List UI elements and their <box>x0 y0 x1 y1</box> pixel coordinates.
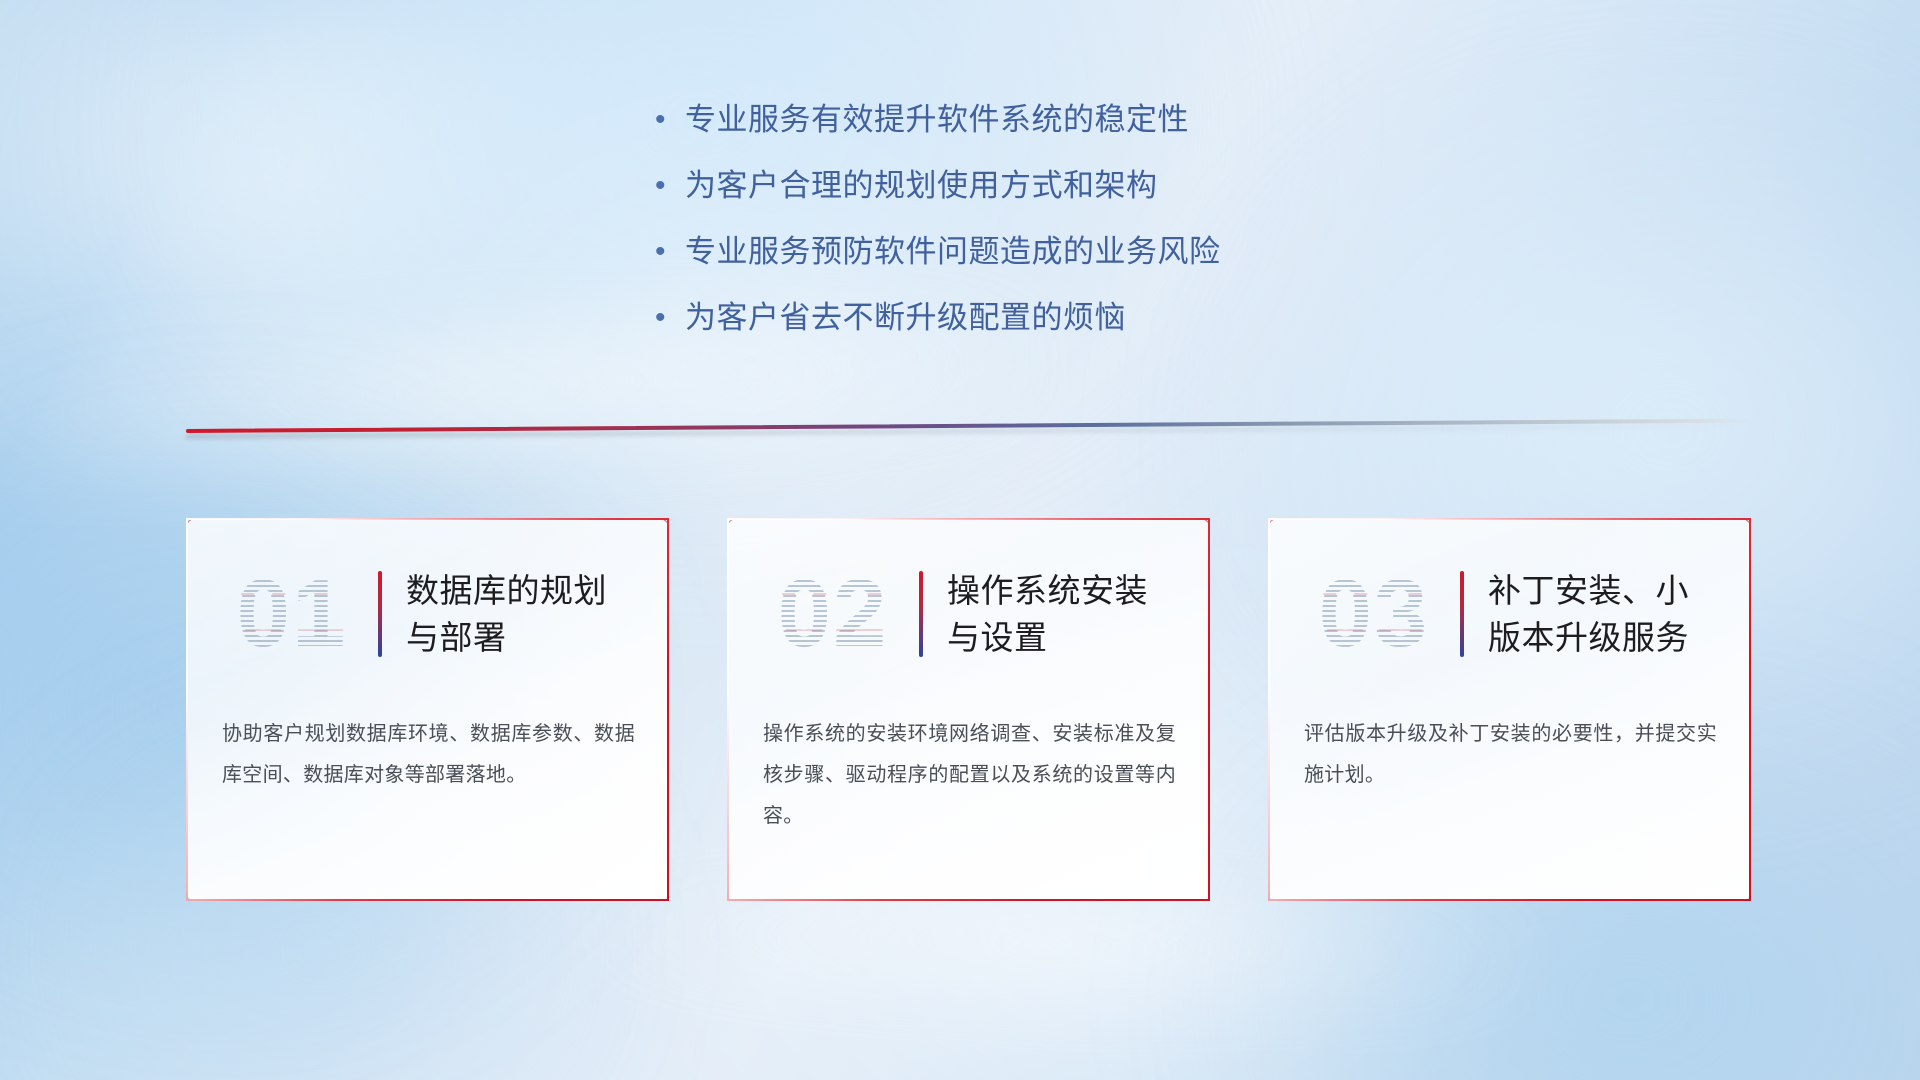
bullet-dot-icon: • <box>655 164 685 208</box>
card-title: 操作系统安装 与设置 <box>947 567 1148 661</box>
card-number: 01 <box>212 555 372 673</box>
card-accent-bar <box>1460 571 1464 657</box>
card-number: 03 <box>1294 555 1454 673</box>
card-accent-bar <box>919 571 923 657</box>
bullet-item: • 为客户合理的规划使用方式和架构 <box>655 164 1655 208</box>
bullet-dot-icon: • <box>655 230 685 274</box>
section-divider <box>186 424 1756 446</box>
bullet-item: • 专业服务有效提升软件系统的稳定性 <box>655 98 1655 142</box>
bullet-list: • 专业服务有效提升软件系统的稳定性 • 为客户合理的规划使用方式和架构 • 专… <box>655 98 1655 362</box>
bullet-item: • 为客户省去不断升级配置的烦恼 <box>655 296 1655 340</box>
card-surface: 03 03 补丁安装、小 版本升级服务 评估版本升级及补丁安装的必要性，并提交实… <box>1268 518 1751 901</box>
card-header: 03 03 补丁安装、小 版本升级服务 <box>1268 548 1751 680</box>
feature-card[interactable]: 01 01 数据库的规划 与部署 协助客户规划数据库环境、数据库参数、数据库空间… <box>186 518 669 901</box>
bullet-item-label: 专业服务有效提升软件系统的稳定性 <box>685 98 1189 142</box>
card-header: 02 02 操作系统安装 与设置 <box>727 548 1210 680</box>
card-surface: 01 01 数据库的规划 与部署 协助客户规划数据库环境、数据库参数、数据库空间… <box>186 518 669 901</box>
card-description: 协助客户规划数据库环境、数据库参数、数据库空间、数据库对象等部署落地。 <box>222 714 635 796</box>
bullet-dot-icon: • <box>655 98 685 142</box>
bullet-dot-icon: • <box>655 296 685 340</box>
card-title: 补丁安装、小 版本升级服务 <box>1488 567 1689 661</box>
bullet-item: • 专业服务预防软件问题造成的业务风险 <box>655 230 1655 274</box>
card-accent-bar <box>378 571 382 657</box>
card-number: 02 <box>753 555 913 673</box>
bullet-item-label: 专业服务预防软件问题造成的业务风险 <box>685 230 1221 274</box>
card-description: 操作系统的安装环境网络调查、安装标准及复核步骤、驱动程序的配置以及系统的设置等内… <box>763 714 1176 837</box>
card-surface: 02 02 操作系统安装 与设置 操作系统的安装环境网络调查、安装标准及复核步骤… <box>727 518 1210 901</box>
bullet-item-label: 为客户合理的规划使用方式和架构 <box>685 164 1158 208</box>
feature-card[interactable]: 03 03 补丁安装、小 版本升级服务 评估版本升级及补丁安装的必要性，并提交实… <box>1268 518 1751 901</box>
card-description: 评估版本升级及补丁安装的必要性，并提交实施计划。 <box>1304 714 1717 796</box>
card-title: 数据库的规划 与部署 <box>406 567 607 661</box>
bullet-item-label: 为客户省去不断升级配置的烦恼 <box>685 296 1126 340</box>
card-header: 01 01 数据库的规划 与部署 <box>186 548 669 680</box>
feature-card[interactable]: 02 02 操作系统安装 与设置 操作系统的安装环境网络调查、安装标准及复核步骤… <box>727 518 1210 901</box>
feature-card-row: 01 01 数据库的规划 与部署 协助客户规划数据库环境、数据库参数、数据库空间… <box>186 518 1751 901</box>
